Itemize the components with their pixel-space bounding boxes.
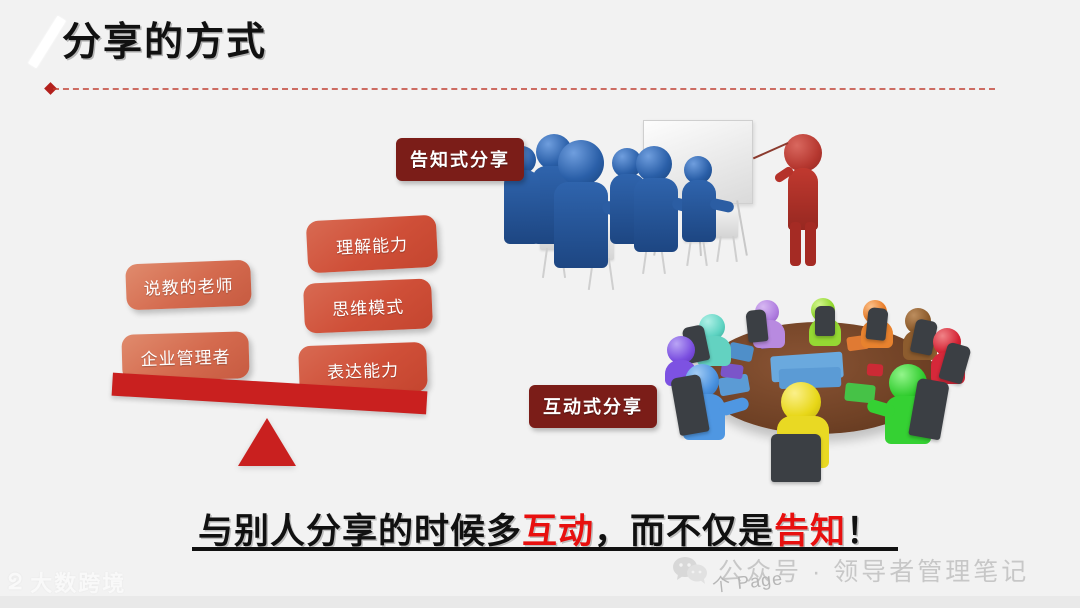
caption-part-3: ！ xyxy=(846,512,882,551)
caption-underline xyxy=(192,547,898,551)
classroom-illustration xyxy=(498,112,848,297)
puzzle-piece xyxy=(867,363,884,376)
brand-logo-icon: ᘖ xyxy=(8,569,21,595)
caption-highlight-interaction: 互动 xyxy=(522,512,594,551)
office-chair xyxy=(815,306,835,336)
roundtable-illustration xyxy=(655,272,985,497)
title-slash-decoration xyxy=(28,16,66,69)
balance-right-item-2: 思维模式 xyxy=(303,278,433,333)
chair-leg xyxy=(542,248,548,278)
chair xyxy=(714,210,738,238)
balance-right-item-1: 理解能力 xyxy=(306,215,439,274)
audience-torso xyxy=(634,178,678,252)
chair-leg xyxy=(716,236,722,262)
caption-highlight-telling: 告知 xyxy=(774,512,846,551)
watermark-brand-left: ᘖ 大数跨境 xyxy=(8,566,126,598)
badge-telling-style: 告知式分享 xyxy=(396,138,524,181)
badge-interactive-style: 互动式分享 xyxy=(529,385,657,428)
chair-leg xyxy=(686,240,692,266)
audience-torso xyxy=(504,170,540,244)
chair-leg xyxy=(608,258,614,290)
slide-canvas: 分享的方式 说教的老师 企业管理者 理解能力 思维模式 表达能力 xyxy=(0,0,1080,608)
teacher-leg-right xyxy=(805,222,816,266)
office-chair xyxy=(745,309,768,343)
wechat-icon xyxy=(672,556,708,584)
chair-leg xyxy=(732,236,738,262)
office-chair xyxy=(771,434,821,482)
bottom-strip xyxy=(0,596,1080,608)
caption-part-2: ，而不仅是 xyxy=(594,512,774,551)
audience-torso xyxy=(682,180,716,242)
audience-head xyxy=(558,140,604,186)
page-title: 分享的方式 xyxy=(62,11,267,67)
title-divider xyxy=(53,88,995,90)
balance-left-item-1: 说教的老师 xyxy=(125,260,252,311)
audience-head xyxy=(636,146,672,182)
audience-torso xyxy=(554,182,608,268)
brand-name-label: 大数跨境 xyxy=(30,566,126,598)
chair-leg xyxy=(702,240,708,266)
caption-part-1: 与别人分享的时候多 xyxy=(198,512,522,551)
teacher-leg-left xyxy=(790,222,801,266)
office-chair xyxy=(865,307,888,341)
teacher-torso xyxy=(788,168,818,230)
seesaw-fulcrum-triangle-icon xyxy=(238,418,296,466)
